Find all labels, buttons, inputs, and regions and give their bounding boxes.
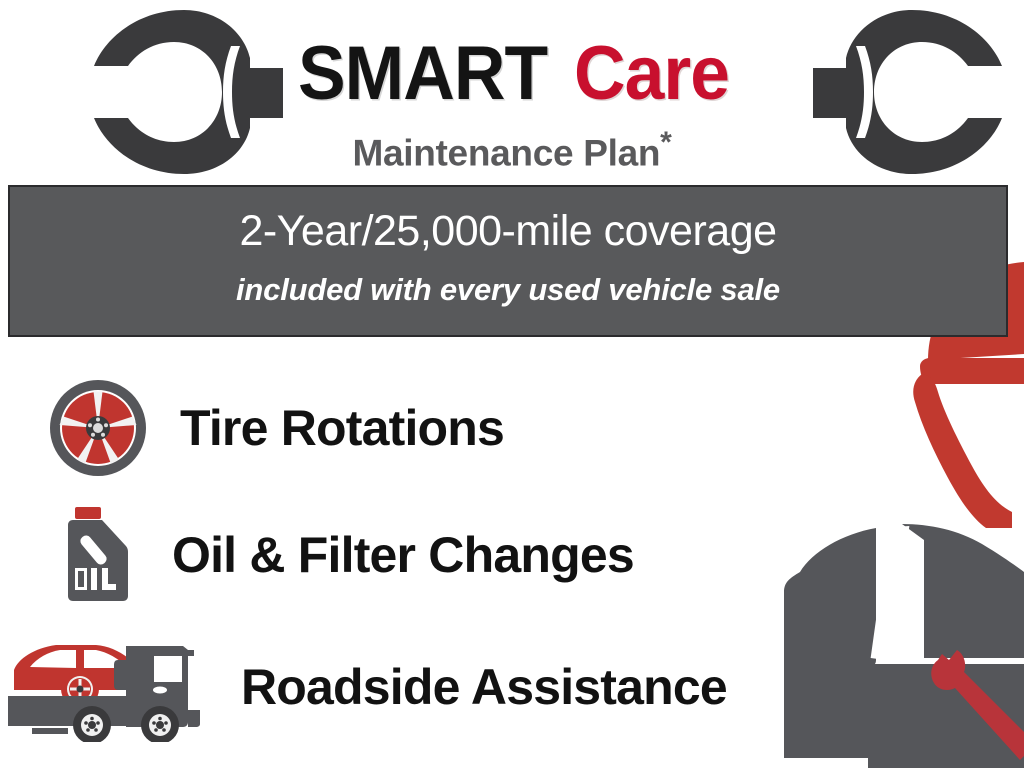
tire-wheel-icon <box>48 378 148 478</box>
brand-name-primary: SMART <box>298 36 547 112</box>
feature-label: Roadside Assistance <box>241 658 727 716</box>
feature-item-tire-rotations: Tire Rotations <box>48 378 504 478</box>
tow-truck-icon <box>8 632 213 742</box>
logo-subtitle: Maintenance Plan* <box>0 126 1024 174</box>
feature-item-oil-filter-changes: Oil & Filter Changes <box>62 505 634 605</box>
coverage-headline: 2-Year/25,000-mile coverage <box>10 207 1006 256</box>
brand-name-secondary: Care <box>574 36 729 112</box>
coverage-subline: included with every used vehicle sale <box>10 272 1006 308</box>
coverage-banner: 2-Year/25,000-mile coverage included wit… <box>8 185 1008 337</box>
feature-item-roadside-assistance: Roadside Assistance <box>8 632 727 742</box>
smart-care-promo-page: SMARTCare Maintenance Plan* 2-Year/25,00… <box>0 0 1024 768</box>
logo-header: SMARTCare Maintenance Plan* <box>0 0 1024 185</box>
feature-label: Tire Rotations <box>180 399 504 457</box>
feature-label: Oil & Filter Changes <box>172 526 634 584</box>
logo-subtitle-asterisk: * <box>660 126 671 159</box>
oil-bottle-icon <box>62 505 134 605</box>
mechanic-figure <box>772 262 1024 768</box>
logo-subtitle-text: Maintenance Plan <box>352 132 660 173</box>
logo-wordmark: SMARTCare <box>0 36 1024 112</box>
